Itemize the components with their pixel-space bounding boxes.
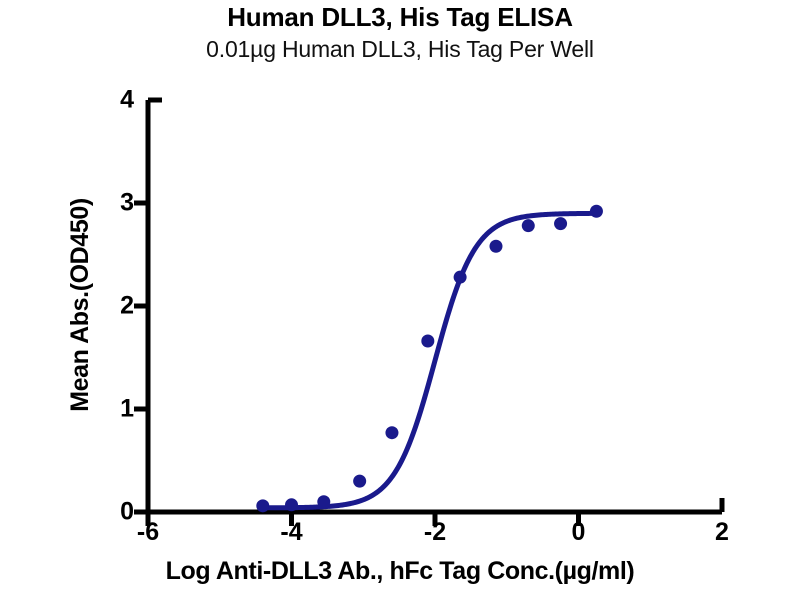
fit-curve	[263, 213, 597, 507]
y-tick-label-2: 2	[104, 292, 134, 321]
data-points	[256, 205, 603, 513]
axes	[146, 100, 723, 512]
x-tick-label--4: -4	[280, 518, 302, 547]
x-tick-label-2: 2	[715, 518, 729, 547]
y-tick-label-4: 4	[104, 86, 134, 115]
data-point	[385, 426, 398, 439]
data-point	[317, 495, 330, 508]
data-point	[554, 217, 567, 230]
data-point	[421, 335, 434, 348]
sigmoid-fit-line	[263, 213, 597, 507]
x-tick-label--6: -6	[137, 518, 159, 547]
data-point	[285, 498, 298, 511]
y-tick-label-0: 0	[104, 498, 134, 527]
data-point	[489, 240, 502, 253]
data-point	[256, 499, 269, 512]
x-tick-label-0: 0	[572, 518, 586, 547]
data-point	[590, 205, 603, 218]
y-tick-label-3: 3	[104, 189, 134, 218]
data-point	[522, 219, 535, 232]
data-point	[454, 271, 467, 284]
y-tick-label-1: 1	[104, 395, 134, 424]
data-point	[353, 475, 366, 488]
chart-root: Human DLL3, His Tag ELISA 0.01µg Human D…	[0, 0, 800, 600]
x-tick-label--2: -2	[424, 518, 446, 547]
